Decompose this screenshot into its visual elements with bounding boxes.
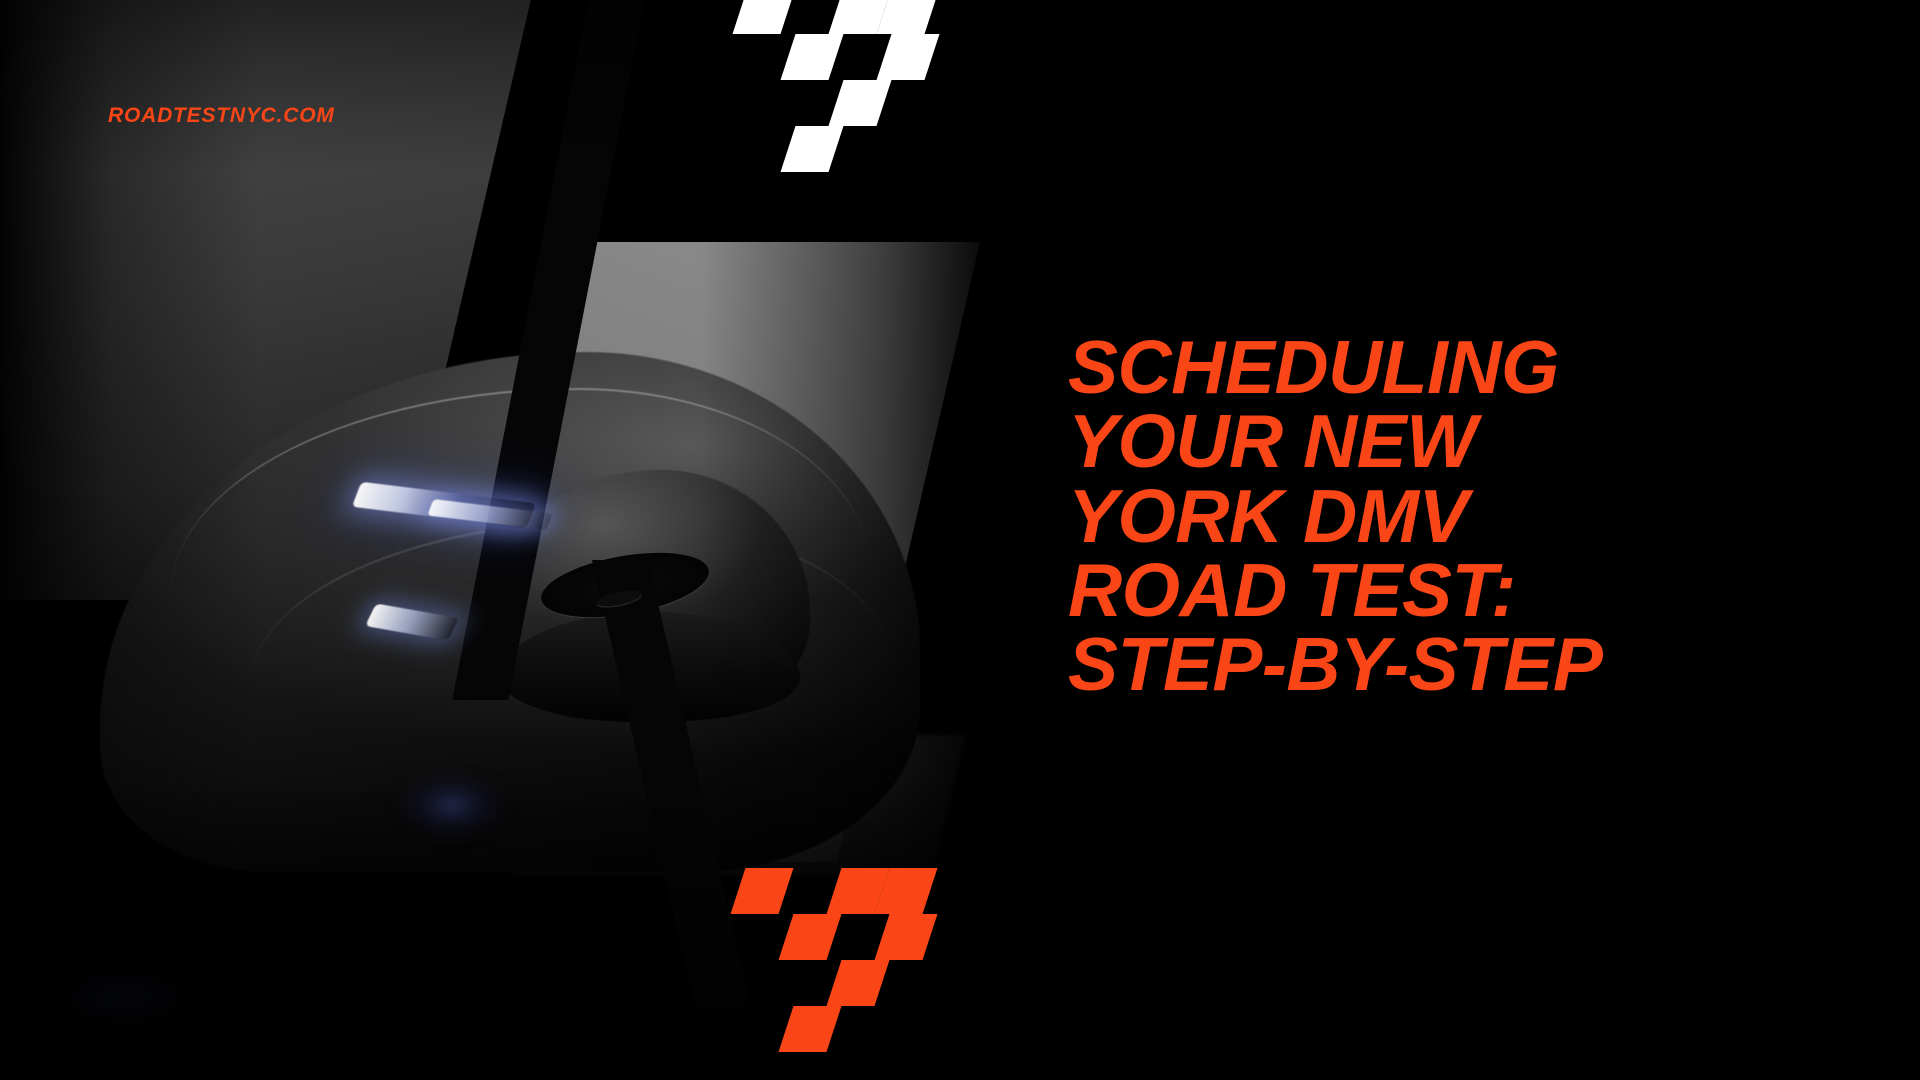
headlight-glow-edge [0, 960, 230, 1040]
page-title-line-5: STEP-BY-STEP [1068, 627, 1868, 701]
headlight-glow-lower [392, 770, 512, 842]
page-title-line-3: YORK DMV [1068, 479, 1868, 553]
page-title-line-2: YOUR NEW [1068, 404, 1868, 478]
site-logo[interactable]: ROADTESTNYC.COM [108, 104, 335, 128]
page-title-line-1: SCHEDULING [1068, 330, 1868, 404]
page-title-line-4: ROAD TEST: [1068, 553, 1868, 627]
checkered-flag-orange-icon [738, 868, 930, 1052]
poster-canvas: ROADTESTNYC.COM SCHEDULINGYOUR NEWYORK D… [0, 0, 1920, 1080]
page-title: SCHEDULINGYOUR NEWYORK DMVROAD TEST:STEP… [1068, 330, 1868, 701]
checkered-flag-white-icon [740, 0, 932, 172]
flag-cell-0-3 [877, 0, 940, 34]
